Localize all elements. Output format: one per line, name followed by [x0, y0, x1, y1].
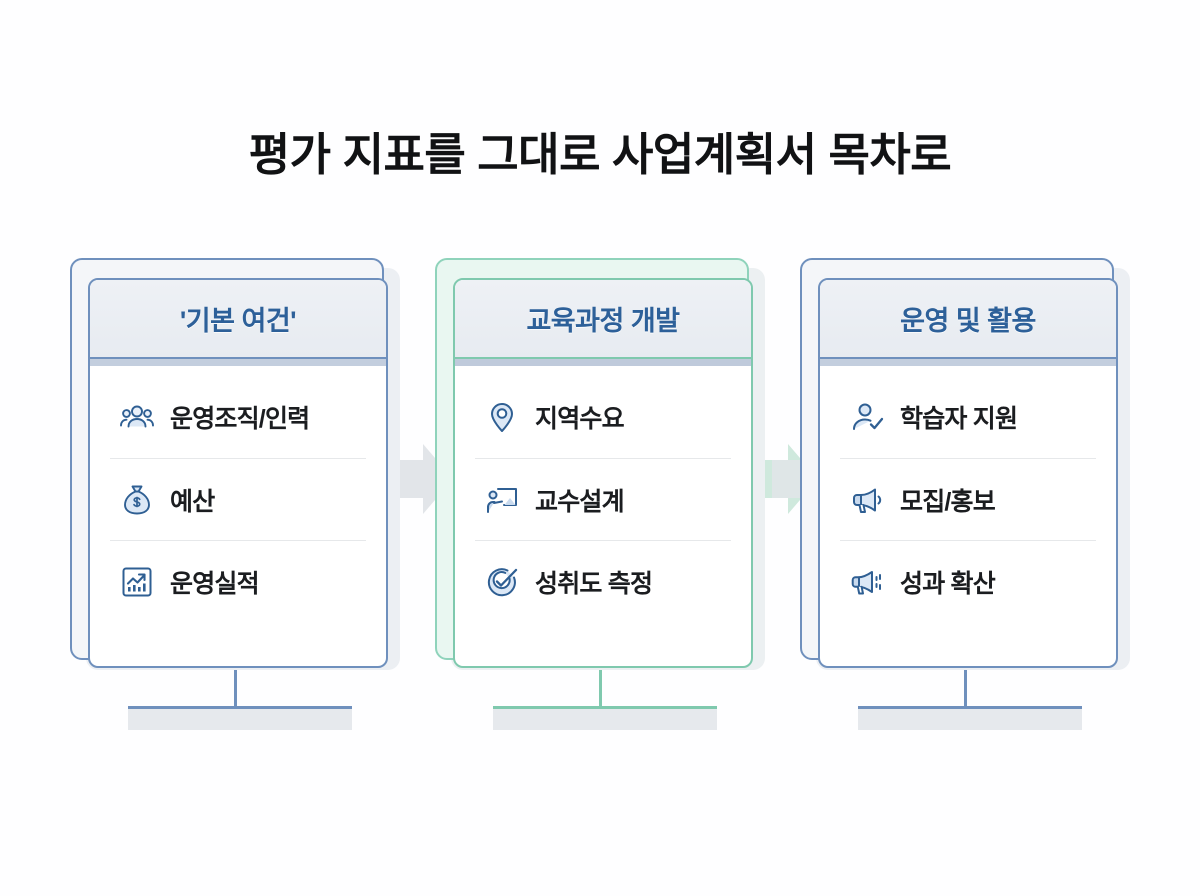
card-header-title: 운영 및 활용 [900, 299, 1036, 338]
stand-base [858, 706, 1082, 730]
location-pin-icon [485, 400, 519, 434]
card-body: 지역수요 교수설계 [455, 366, 751, 661]
card-basic-conditions: '기본 여건' 운영조직/인력 [70, 258, 400, 718]
list-item[interactable]: 성취도 측정 [475, 540, 731, 622]
growth-chart-icon [120, 565, 154, 599]
list-item-label: 운영실적 [170, 564, 259, 600]
card-inner: 운영 및 활용 학습자 지원 [818, 278, 1118, 668]
list-item-label: 운영조직/인력 [170, 399, 309, 435]
money-bag-icon [120, 483, 154, 517]
header-rule [90, 357, 386, 359]
page-title: 평가 지표를 그대로 사업계획서 목차로 [0, 128, 1200, 182]
presenter-board-icon [485, 483, 519, 517]
list-item[interactable]: 학습자 지원 [840, 376, 1096, 458]
stand-base [493, 706, 717, 730]
card-body: 운영조직/인력 예산 [90, 366, 386, 661]
person-check-icon [850, 400, 884, 434]
list-item-label: 교수설계 [535, 482, 624, 518]
header-rule [455, 357, 751, 359]
list-item-label: 성과 확산 [900, 564, 995, 600]
card-header: 운영 및 활용 [820, 280, 1116, 366]
header-rule [820, 357, 1116, 359]
megaphone-waves-icon [850, 565, 884, 599]
card-header: 교육과정 개발 [455, 280, 751, 366]
list-item-label: 학습자 지원 [900, 399, 1017, 435]
list-item[interactable]: 지역수요 [475, 376, 731, 458]
list-item[interactable]: 성과 확산 [840, 540, 1096, 622]
infographic-canvas: 평가 지표를 그대로 사업계획서 목차로 '기본 여건' [0, 0, 1200, 896]
people-group-icon [120, 400, 154, 434]
card-inner: '기본 여건' 운영조직/인력 [88, 278, 388, 668]
list-item-label: 예산 [170, 482, 214, 518]
list-item[interactable]: 교수설계 [475, 458, 731, 540]
card-header-title: '기본 여건' [180, 299, 296, 338]
card-header-title: 교육과정 개발 [526, 299, 679, 338]
card-curriculum-development: 교육과정 개발 지역수요 [435, 258, 765, 718]
list-item-label: 모집/홍보 [900, 482, 995, 518]
list-item[interactable]: 운영조직/인력 [110, 376, 366, 458]
list-item-label: 지역수요 [535, 399, 624, 435]
list-item[interactable]: 모집/홍보 [840, 458, 1096, 540]
megaphone-icon [850, 483, 884, 517]
card-body: 학습자 지원 모집/홍보 [820, 366, 1116, 661]
target-check-icon [485, 565, 519, 599]
card-inner: 교육과정 개발 지역수요 [453, 278, 753, 668]
card-operation-utilization: 운영 및 활용 학습자 지원 [800, 258, 1130, 718]
card-header: '기본 여건' [90, 280, 386, 366]
list-item[interactable]: 운영실적 [110, 540, 366, 622]
list-item[interactable]: 예산 [110, 458, 366, 540]
list-item-label: 성취도 측정 [535, 564, 652, 600]
stand-base [128, 706, 352, 730]
